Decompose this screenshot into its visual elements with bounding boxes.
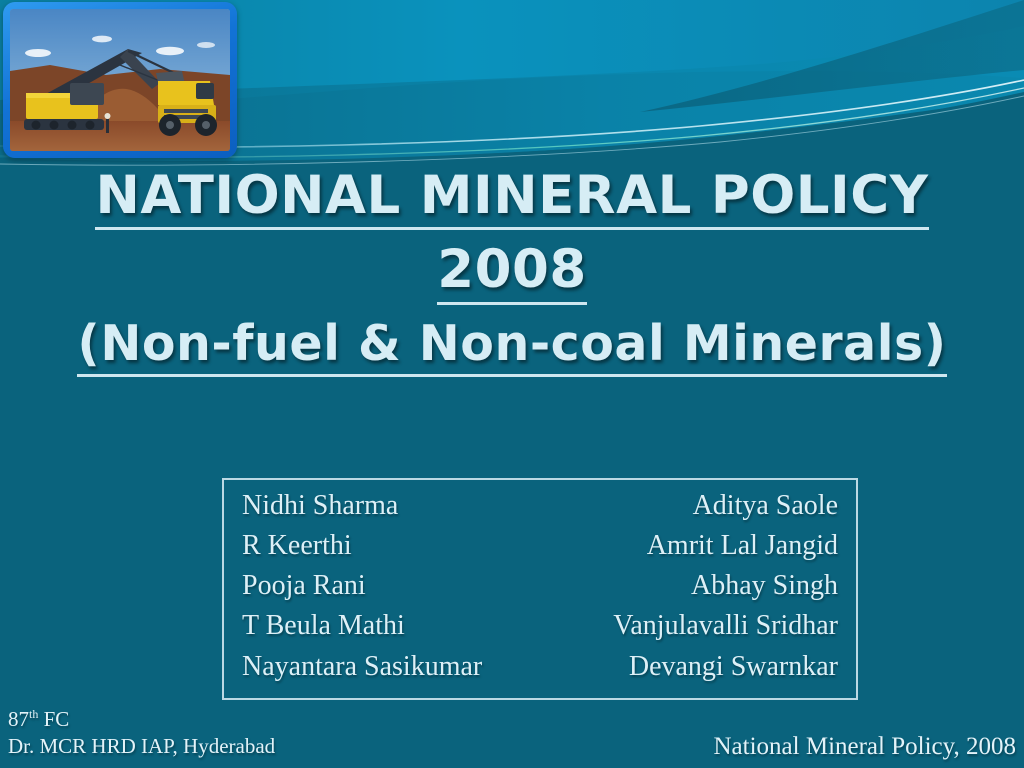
title-line-1: NATIONAL MINERAL POLICY bbox=[0, 166, 1024, 230]
footer-course-label: FC bbox=[38, 707, 69, 731]
table-row: Nidhi Sharma Aditya Saole bbox=[238, 486, 842, 526]
title-line-3-text: (Non-fuel & Non-coal Minerals) bbox=[77, 317, 946, 377]
author-name-left: Pooja Rani bbox=[238, 566, 540, 606]
presentation-slide: NATIONAL MINERAL POLICY 2008 (Non-fuel &… bbox=[0, 0, 1024, 768]
title-line-1-text: NATIONAL MINERAL POLICY bbox=[95, 166, 928, 230]
authors-table-box: Nidhi Sharma Aditya Saole R Keerthi Amri… bbox=[222, 478, 858, 700]
author-name-left: Nidhi Sharma bbox=[238, 486, 540, 526]
footer-course-number-value: 87 bbox=[8, 707, 29, 731]
title-line-3: (Non-fuel & Non-coal Minerals) bbox=[0, 317, 1024, 377]
mining-photo-illustration bbox=[10, 9, 230, 151]
author-name-left: R Keerthi bbox=[238, 526, 540, 566]
table-row: R Keerthi Amrit Lal Jangid bbox=[238, 526, 842, 566]
footer-ordinal-suffix: th bbox=[29, 707, 38, 721]
footer-course-number: 87th FC bbox=[8, 707, 275, 732]
footer-right: National Mineral Policy, 2008 bbox=[714, 733, 1017, 761]
title-line-2-text: 2008 bbox=[437, 240, 587, 304]
author-name-right: Vanjulavalli Sridhar bbox=[540, 606, 842, 646]
table-row: Pooja Rani Abhay Singh bbox=[238, 566, 842, 606]
author-name-left: Nayantara Sasikumar bbox=[238, 647, 540, 687]
author-name-right: Aditya Saole bbox=[540, 486, 842, 526]
author-name-right: Amrit Lal Jangid bbox=[540, 526, 842, 566]
table-row: Nayantara Sasikumar Devangi Swarnkar bbox=[238, 647, 842, 687]
title-line-2: 2008 bbox=[0, 240, 1024, 304]
mining-photo-frame bbox=[3, 2, 237, 158]
footer-institute: Dr. MCR HRD IAP, Hyderabad bbox=[8, 734, 275, 760]
slide-title-block: NATIONAL MINERAL POLICY 2008 (Non-fuel &… bbox=[0, 166, 1024, 377]
author-name-right: Abhay Singh bbox=[540, 566, 842, 606]
authors-table: Nidhi Sharma Aditya Saole R Keerthi Amri… bbox=[238, 486, 842, 687]
table-row: T Beula Mathi Vanjulavalli Sridhar bbox=[238, 606, 842, 646]
author-name-left: T Beula Mathi bbox=[238, 606, 540, 646]
mining-photo bbox=[10, 9, 230, 151]
author-name-right: Devangi Swarnkar bbox=[540, 647, 842, 687]
footer-left: 87th FC Dr. MCR HRD IAP, Hyderabad bbox=[8, 707, 275, 759]
